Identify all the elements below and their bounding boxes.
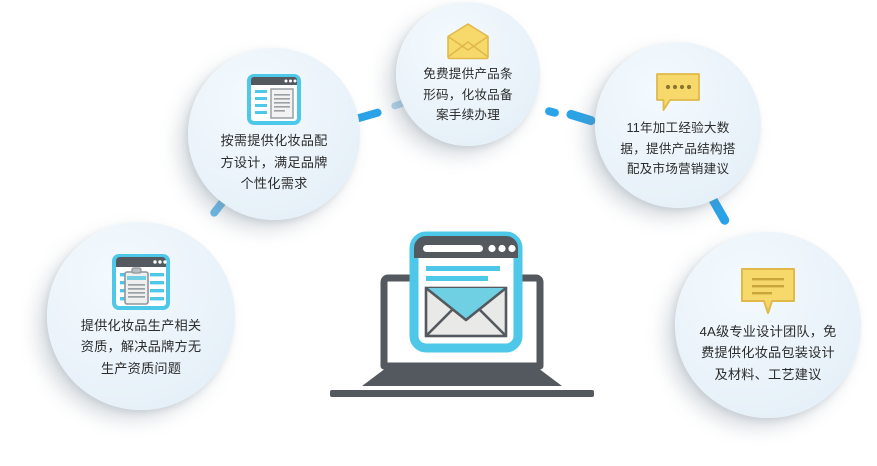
bubble-experience-data[interactable]: 11年加工经验大数 据，提供产品结构搭 配及市场营销建议: [595, 42, 761, 208]
browser-clipboard-icon: [110, 253, 172, 311]
bubble-label: 免费提供产品条 形码，化妆品备 案手续办理: [406, 64, 530, 125]
bubble-barcode-filing[interactable]: 免费提供产品条 形码，化妆品备 案手续办理: [396, 2, 540, 146]
bubble-label: 4A级专业设计团队，免 费提供化妆品包装设计 及材料、工艺建议: [687, 321, 849, 385]
bubble-qualification[interactable]: 提供化妆品生产相关 资质，解决品牌方无 生产资质问题: [47, 222, 235, 410]
speech-bubble-dots-icon: [653, 70, 703, 114]
connector-dash-3-4-b: [565, 109, 596, 126]
bubble-label: 提供化妆品生产相关 资质，解决品牌方无 生产资质问题: [61, 315, 221, 379]
bubble-design-team[interactable]: 4A级专业设计团队，免 费提供化妆品包装设计 及材料、工艺建议: [675, 232, 861, 418]
envelope-icon: [444, 22, 492, 60]
bubble-formula-design[interactable]: 按需提供化妆品配 方设计，满足品牌 个性化需求: [188, 48, 360, 220]
connector-dash-3-4-a: [544, 106, 560, 117]
infographic-canvas: 提供化妆品生产相关 资质，解决品牌方无 生产资质问题: [0, 0, 877, 466]
browser-document-icon: [246, 73, 302, 126]
speech-bubble-lines-icon: [738, 265, 798, 317]
bubble-label: 11年加工经验大数 据，提供产品结构搭 配及市场营销建议: [605, 118, 751, 179]
laptop-email-illustration: [322, 218, 602, 413]
bubble-label: 按需提供化妆品配 方设计，满足品牌 个性化需求: [199, 130, 349, 194]
